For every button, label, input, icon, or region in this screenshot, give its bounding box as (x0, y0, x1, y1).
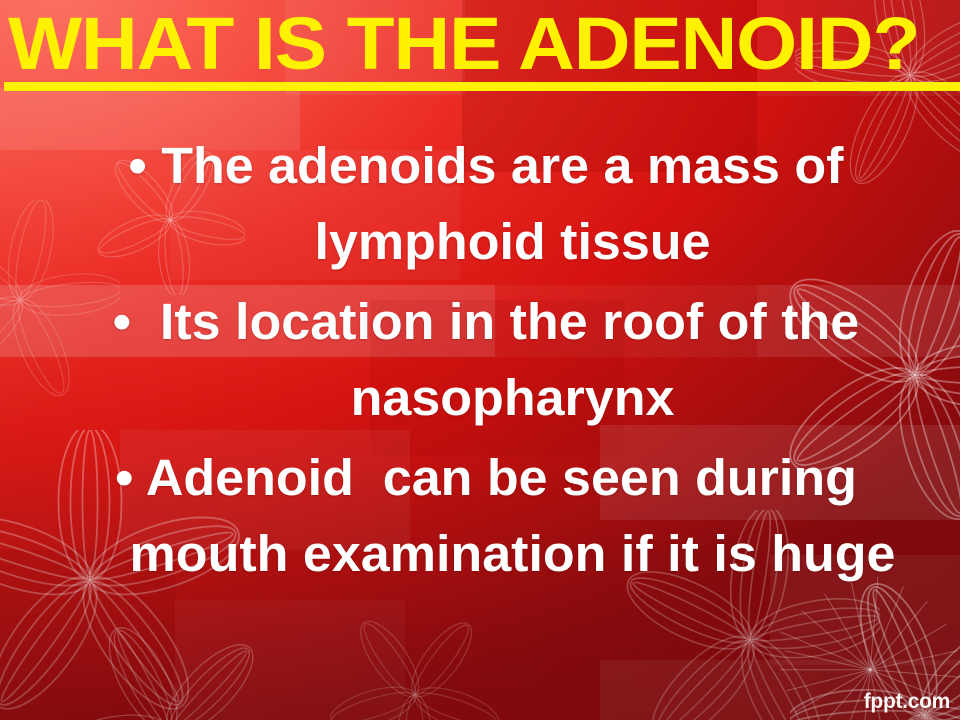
list-item-text: Adenoid can be seen during mouth examina… (130, 449, 896, 582)
bullet-marker: • (115, 449, 133, 506)
list-item: • Adenoid can be seen during mouth exami… (37, 440, 935, 592)
presentation-slide: WHAT IS THE ADENOID? • The adenoids are … (0, 0, 960, 720)
list-item-text: Its location in the roof of the nasophar… (131, 293, 874, 426)
title-underline-bar (4, 82, 960, 91)
watermark-label: fppt.com (864, 690, 950, 714)
bullet-marker: • (113, 293, 131, 350)
list-item-text: The adenoids are a mass of lymphoid tiss… (147, 137, 858, 270)
title-area: WHAT IS THE ADENOID? (0, 0, 960, 96)
bullet-list: • The adenoids are a mass of lymphoid ti… (46, 128, 926, 596)
bullet-marker: • (129, 137, 147, 194)
page-title: WHAT IS THE ADENOID? (8, 6, 960, 82)
list-item: • Its location in the roof of the nasoph… (37, 284, 935, 436)
list-item: • The adenoids are a mass of lymphoid ti… (37, 128, 935, 280)
